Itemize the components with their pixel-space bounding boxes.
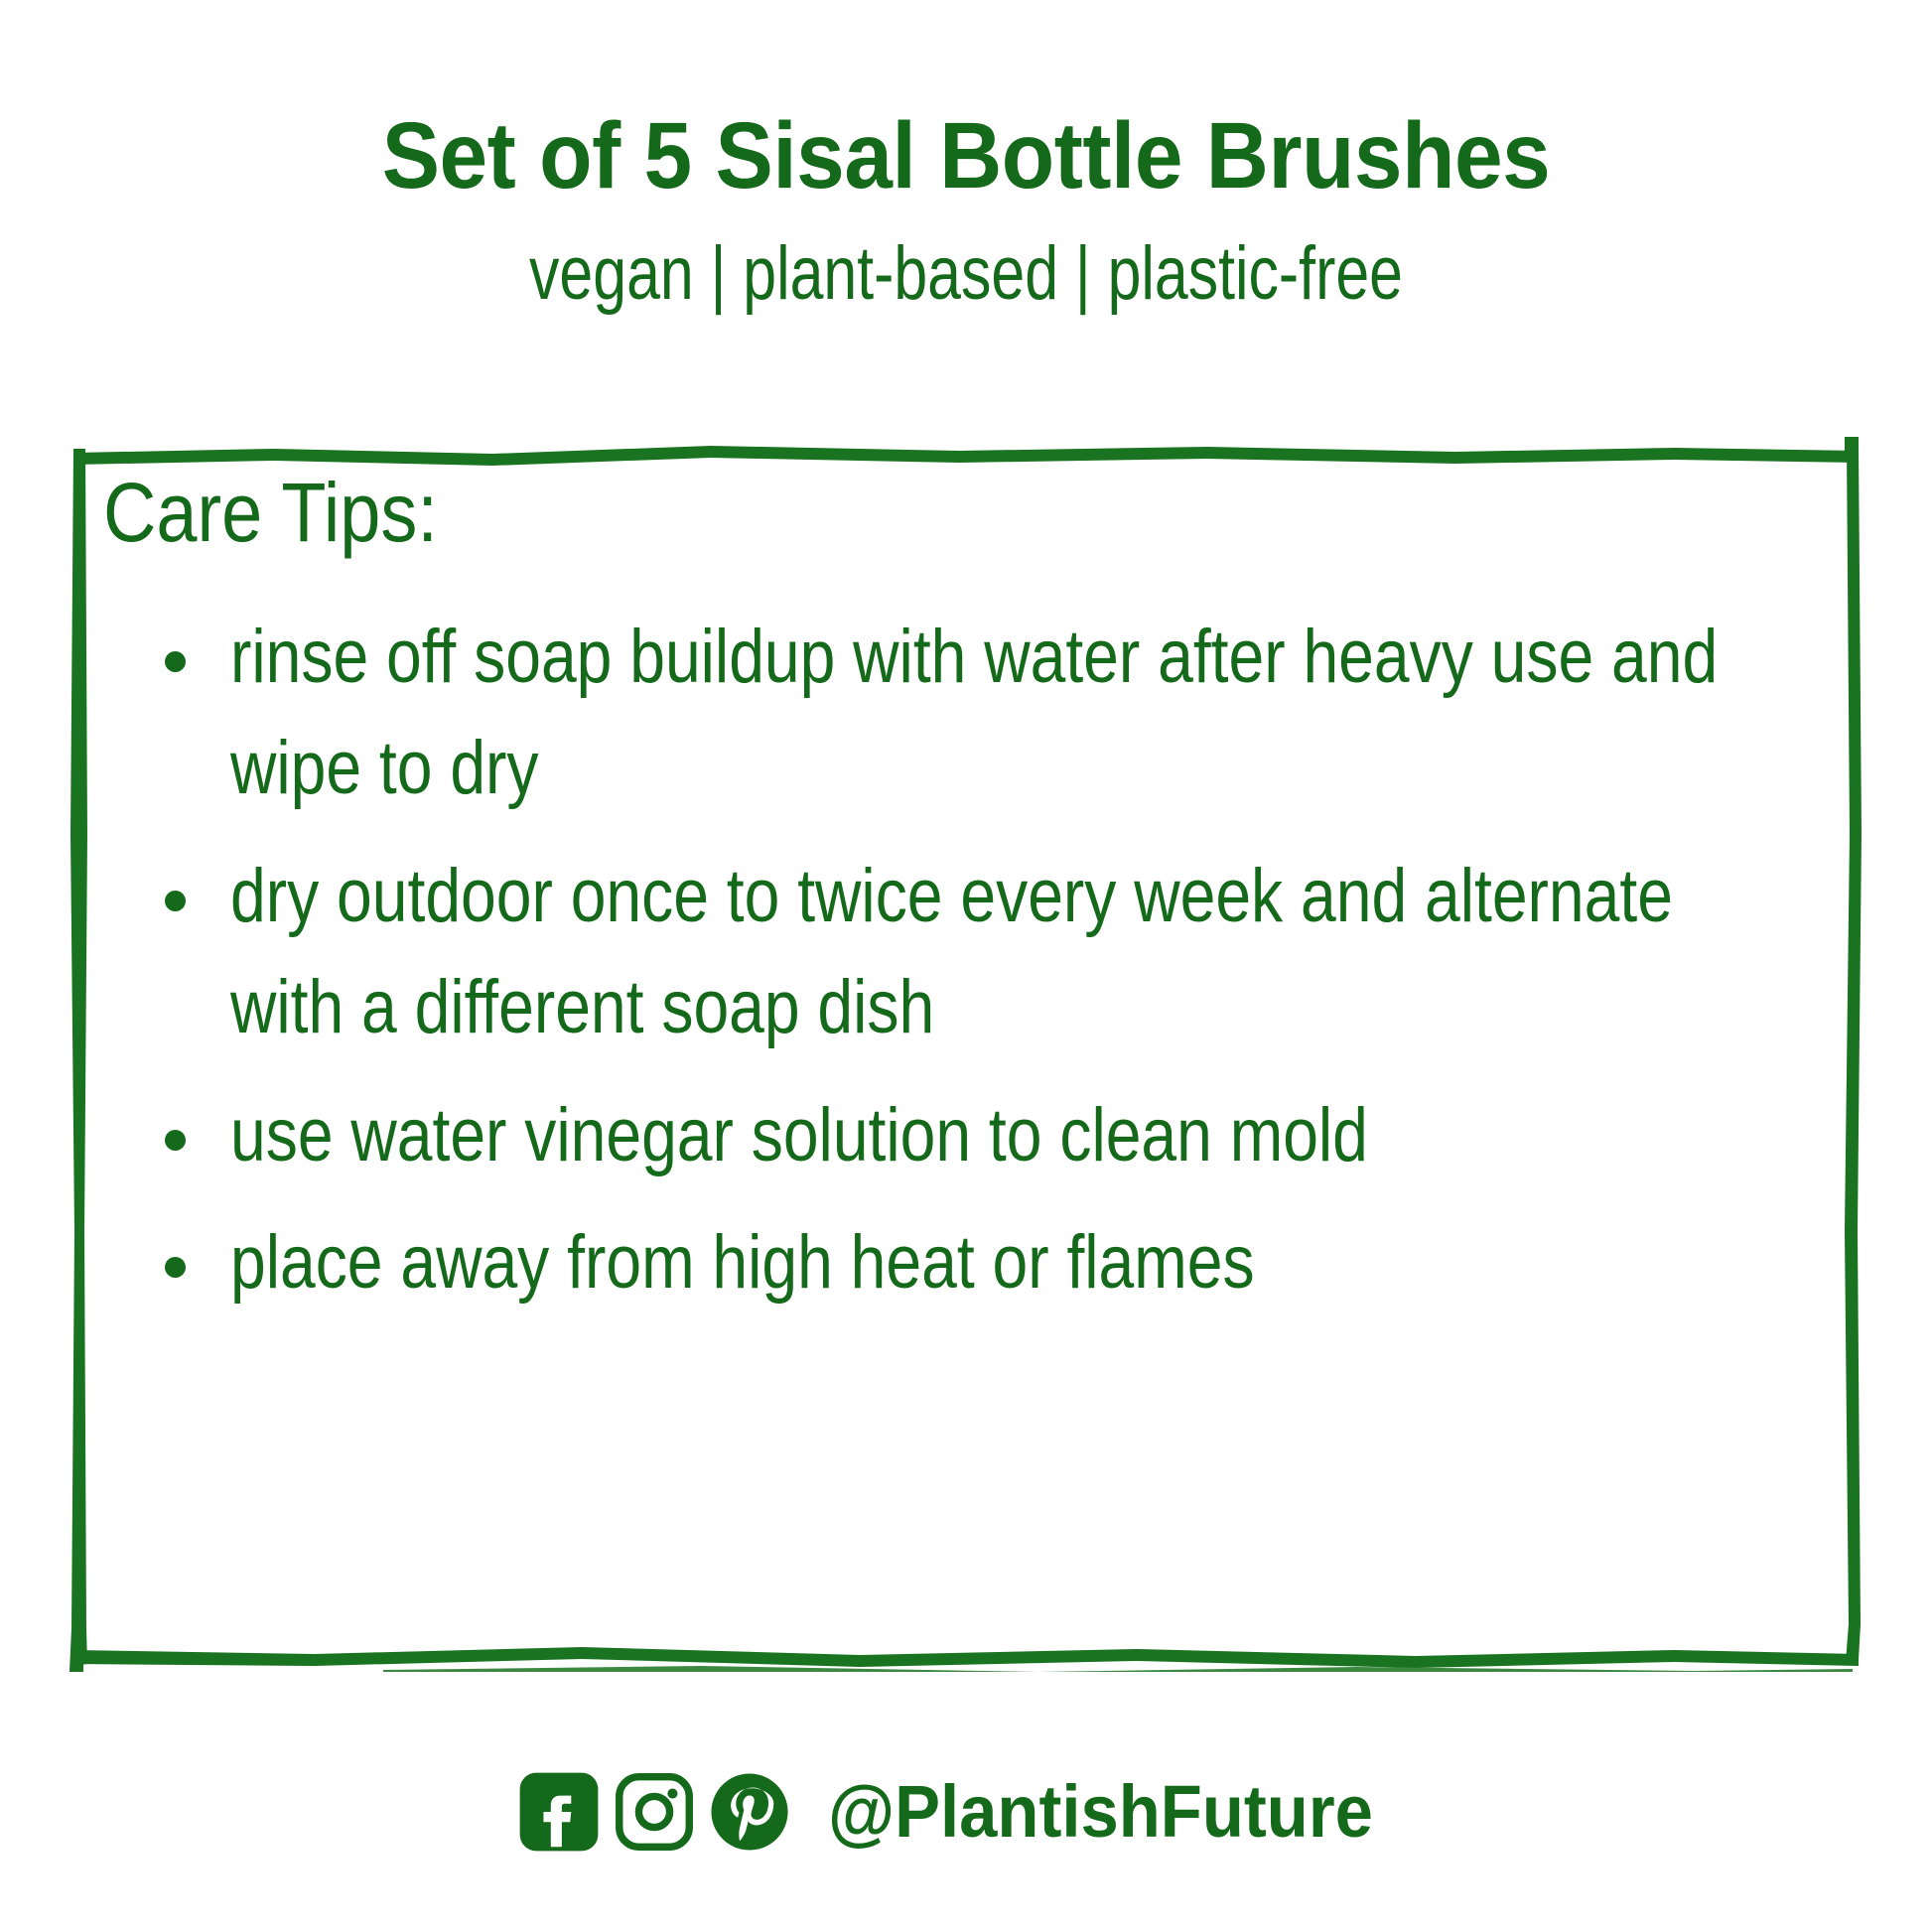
facebook-icon[interactable] xyxy=(518,1771,600,1853)
list-item: use water vinegar solution to clean mold xyxy=(103,1080,1764,1191)
tip-text: place away from high heat or flames xyxy=(230,1207,1763,1318)
care-tips-card: Set of 5 Sisal Bottle Brushes vegan | pl… xyxy=(0,0,1932,1932)
list-item: place away from high heat or flames xyxy=(103,1207,1764,1318)
instagram-icon[interactable] xyxy=(614,1771,695,1853)
care-tips-box: Care Tips: rinse off soap buildup with w… xyxy=(66,437,1864,1672)
care-box-content: Care Tips: rinse off soap buildup with w… xyxy=(103,471,1827,1646)
tip-text: use water vinegar solution to clean mold xyxy=(230,1080,1763,1191)
tip-text: dry outdoor once to twice every week and… xyxy=(230,841,1763,1064)
list-item: dry outdoor once to twice every week and… xyxy=(103,841,1764,1064)
social-icon-group xyxy=(518,1771,790,1853)
card-footer: @PlantishFuture xyxy=(0,1771,1932,1853)
list-item: rinse off soap buildup with water after … xyxy=(103,602,1764,825)
care-tips-heading: Care Tips: xyxy=(103,471,1620,554)
page-title: Set of 5 Sisal Bottle Brushes xyxy=(77,107,1855,207)
care-tips-list: rinse off soap buildup with water after … xyxy=(103,602,1827,1319)
page-subtitle: vegan | plant-based | plastic-free xyxy=(194,232,1739,316)
pinterest-icon[interactable] xyxy=(709,1771,790,1853)
social-handle[interactable]: @PlantishFuture xyxy=(828,1775,1373,1849)
tip-text: rinse off soap buildup with water after … xyxy=(230,602,1763,825)
card-header: Set of 5 Sisal Bottle Brushes vegan | pl… xyxy=(0,107,1932,315)
